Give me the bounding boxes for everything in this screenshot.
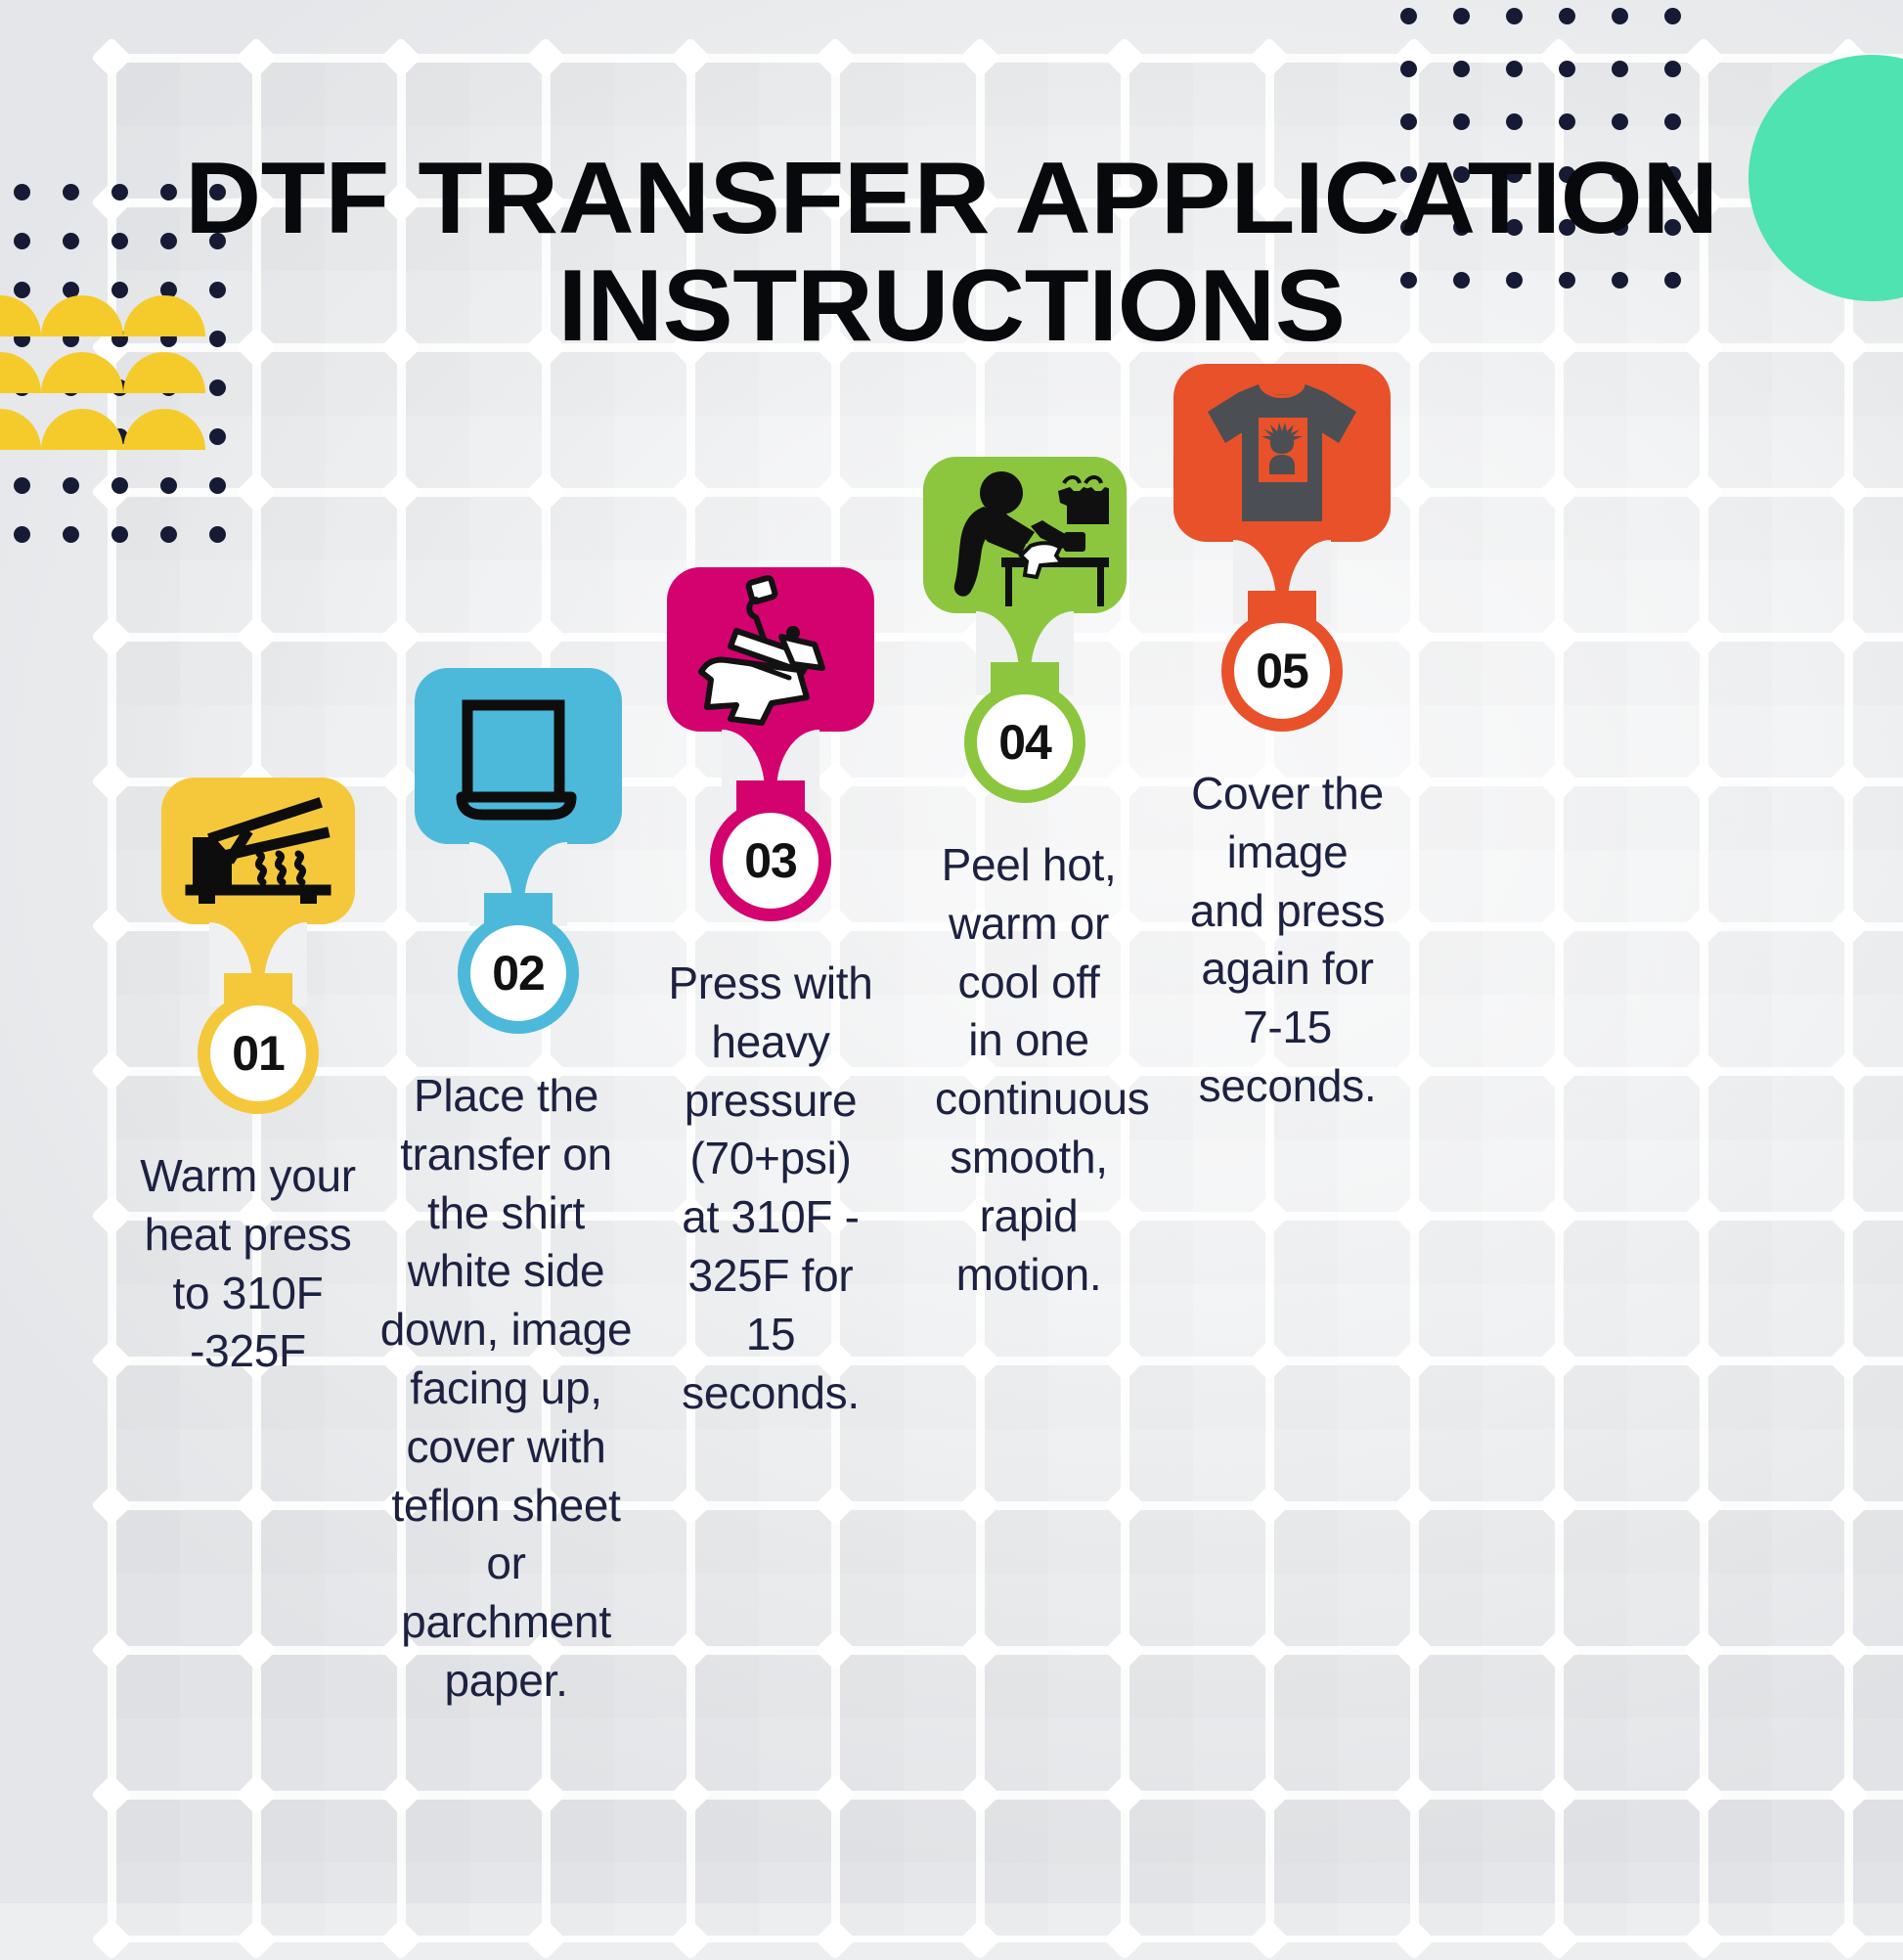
step-04-number: 04	[964, 682, 1085, 803]
step-02-number: 02	[458, 913, 579, 1034]
heat-press-icon	[185, 796, 332, 906]
step-02-badge-wrap: 02	[458, 926, 579, 1034]
step-04-text: Peel hot, warm or cool off in one contin…	[935, 836, 1123, 1304]
step-01-number: 01	[198, 993, 319, 1114]
step-01-icon-card	[161, 778, 355, 924]
step-05-icon-card	[1173, 364, 1391, 542]
step-item-02: 02 Place the transfer on the shirt white…	[415, 668, 622, 1711]
step-05-text: Cover the image and press again for 7-15…	[1190, 765, 1386, 1116]
step-05-number: 05	[1221, 610, 1343, 732]
step-02-icon-card	[415, 668, 622, 844]
page-title-line-1: DTF TRANSFER APPLICATION	[124, 145, 1778, 252]
heat-press-shirt-icon	[687, 566, 854, 733]
step-04-icon-card	[923, 457, 1127, 613]
step-03-number: 03	[710, 800, 831, 921]
step-03-badge-wrap: 03	[710, 814, 831, 921]
step-item-05: 05 Cover the image and press again for 7…	[1173, 364, 1391, 1116]
step-03-icon-card	[667, 567, 874, 732]
transfer-sheet-icon	[450, 688, 587, 824]
step-04-badge-wrap: 04	[964, 695, 1085, 803]
page-title: DTF TRANSFER APPLICATION INSTRUCTIONS	[0, 145, 1903, 360]
step-item-01: 01 Warm your heat press to 310F -325F	[161, 778, 355, 1381]
step-item-03: 03 Press with heavy pressure (70+psi) at…	[667, 567, 874, 1422]
step-03-text: Press with heavy pressure (70+psi) at 31…	[667, 955, 874, 1422]
step-05-badge-wrap: 05	[1221, 624, 1343, 732]
step-01-badge-wrap: 01	[198, 1006, 319, 1114]
printed-tshirt-icon	[1200, 375, 1364, 531]
step-02-text: Place the transfer on the shirt white si…	[378, 1067, 635, 1711]
step-item-04: 04 Peel hot, warm or cool off in one con…	[923, 457, 1127, 1304]
person-pressing-icon	[941, 462, 1109, 608]
step-01-text: Warm your heat press to 310F -325F	[131, 1147, 366, 1381]
page-title-line-2: INSTRUCTIONS	[124, 252, 1778, 360]
